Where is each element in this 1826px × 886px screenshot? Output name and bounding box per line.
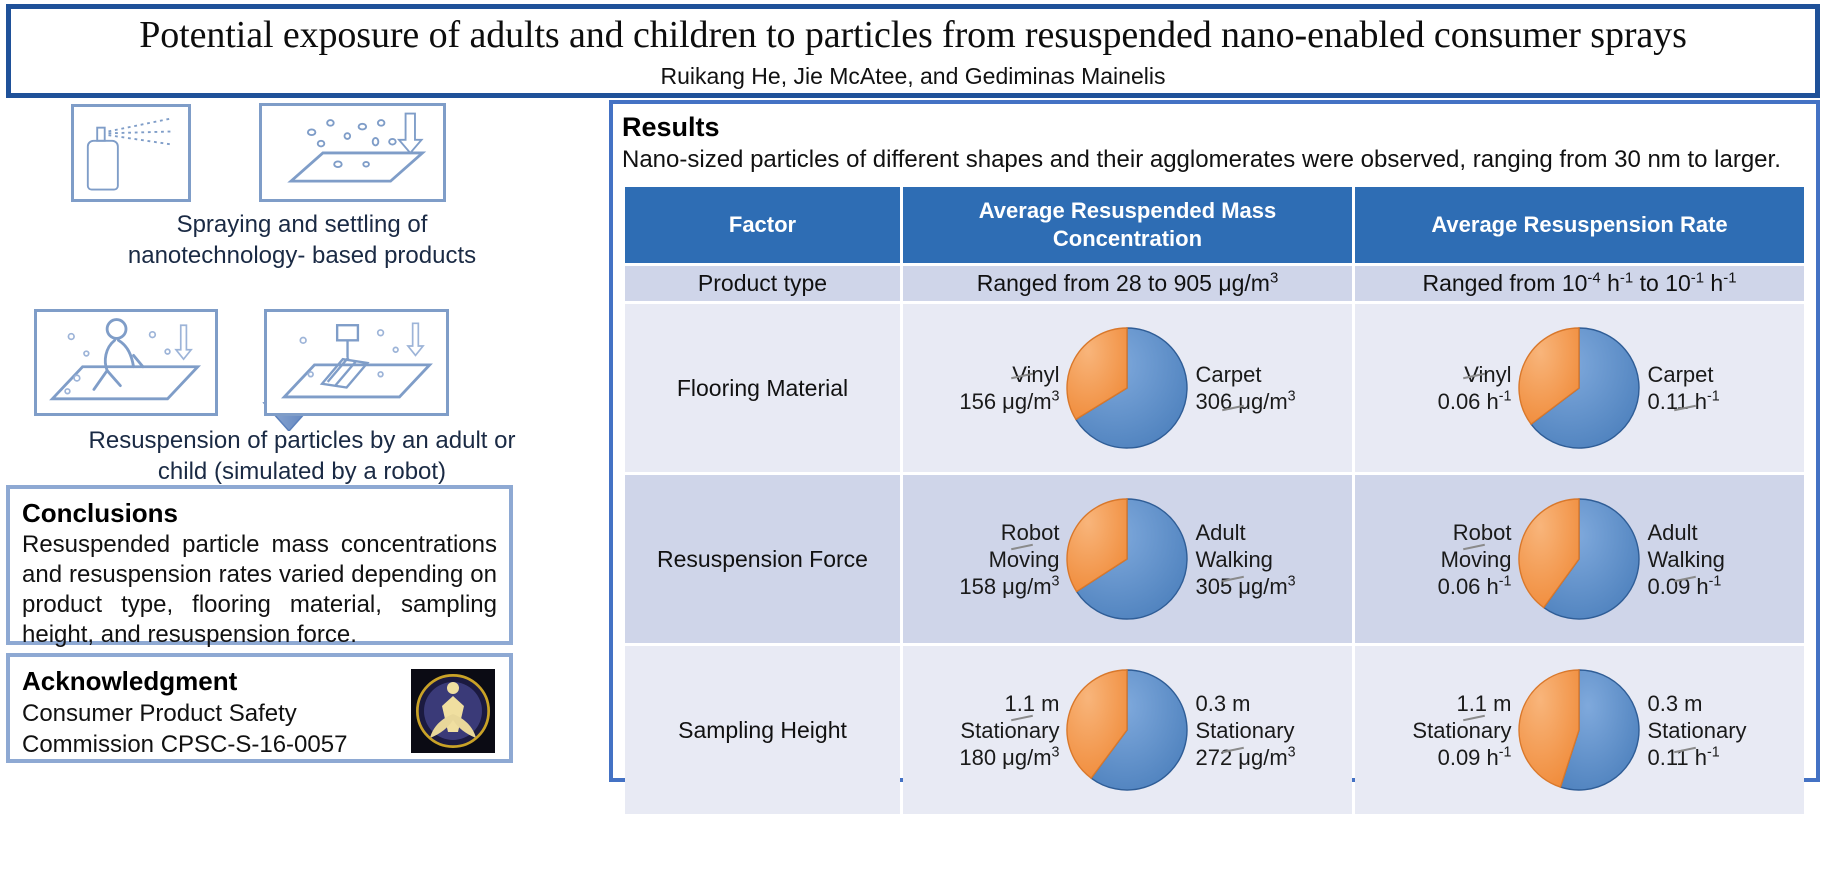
table-row: Sampling Height 1.1 mStationary180 μg/m3… — [625, 646, 1804, 814]
pie-callout-left: 1.1 mStationary180 μg/m3 — [947, 690, 1059, 771]
cpsc-seal-logo — [411, 669, 495, 753]
cell-mass-pie: RobotMoving158 μg/m3 AdultWalking305 μg/… — [903, 475, 1352, 643]
caption-line-1: Resuspension of particles by an adult or — [89, 427, 516, 454]
cell-mass-pie: Vinyl156 μg/m3 Carpet306 μg/m3 — [903, 304, 1352, 472]
poster-root: Potential exposure of adults and childre… — [0, 0, 1826, 886]
pie-chart — [1063, 495, 1191, 623]
table-row: Product type Ranged from 28 to 905 μg/m3… — [625, 266, 1804, 301]
pie-callout-left: RobotMoving0.06 h-1 — [1399, 519, 1511, 600]
pie-chart — [1063, 666, 1191, 794]
table-row: Resuspension Force RobotMoving158 μg/m3 … — [625, 475, 1804, 643]
figure-caption-bottom: Resuspension of particles by an adult or… — [4, 425, 600, 487]
pie-callout-left: 1.1 mStationary0.09 h-1 — [1399, 690, 1511, 771]
table-header-row: Factor Average Resuspended Mass Concentr… — [625, 187, 1804, 263]
acknowledgment-panel: Acknowledgment Consumer Product Safety C… — [6, 653, 513, 763]
pie-chart — [1515, 324, 1643, 452]
row-factor-label: Flooring Material — [625, 304, 900, 472]
conclusions-body: Resuspended particle mass concentrations… — [22, 530, 497, 650]
cpsc-seal-icon — [414, 672, 492, 750]
row-factor-label: Product type — [625, 266, 900, 301]
row-factor-label: Sampling Height — [625, 646, 900, 814]
author-list: Ruikang He, Jie McAtee, and Gediminas Ma… — [661, 62, 1166, 90]
table-row: Flooring Material Vinyl156 μg/m3 Carpet3… — [625, 304, 1804, 472]
pie-callout-right: 0.3 mStationary272 μg/m3 — [1195, 690, 1307, 771]
results-table: Factor Average Resuspended Mass Concentr… — [622, 184, 1807, 817]
page-title: Potential exposure of adults and childre… — [139, 13, 1687, 57]
adult-walking-figure — [34, 309, 218, 416]
figure-caption-top: Spraying and settling of nanotechnology-… — [4, 209, 600, 271]
column-header-factor: Factor — [625, 187, 900, 263]
cell-rate-pie: 1.1 mStationary0.09 h-1 0.3 mStationary0… — [1355, 646, 1804, 814]
pie-callout-left: Vinyl156 μg/m3 — [947, 361, 1059, 415]
left-column: Spraying and settling of nanotechnology-… — [4, 103, 600, 881]
title-banner: Potential exposure of adults and childre… — [6, 4, 1820, 98]
caption-line-2: child (simulated by a robot) — [158, 458, 446, 485]
conclusions-title: Conclusions — [22, 497, 497, 529]
conclusions-panel: Conclusions Resuspended particle mass co… — [6, 485, 513, 645]
pie-callout-right: Carpet306 μg/m3 — [1195, 361, 1307, 415]
robot-moving-figure — [264, 309, 449, 416]
results-subtitle: Nano-sized particles of different shapes… — [622, 145, 1807, 175]
table-body: Product type Ranged from 28 to 905 μg/m3… — [625, 266, 1804, 814]
pie-callout-right: 0.3 mStationary0.11 h-1 — [1647, 690, 1759, 771]
cell-rate-pie: Vinyl0.06 h-1 Carpet0.11 h-1 — [1355, 304, 1804, 472]
cell-rate-text: Ranged from 10-4 h-1 to 10-1 h-1 — [1355, 266, 1804, 301]
spray-bottle-icon — [74, 107, 188, 199]
pie-callout-left: Vinyl0.06 h-1 — [1399, 361, 1511, 415]
pie-chart — [1063, 324, 1191, 452]
column-header-mass-concentration: Average Resuspended Mass Concentration — [903, 187, 1352, 263]
results-title: Results — [622, 111, 1807, 144]
spray-bottle-figure — [71, 104, 191, 202]
pie-callout-left: RobotMoving158 μg/m3 — [947, 519, 1059, 600]
caption-line-2: nanotechnology- based products — [128, 242, 476, 269]
pie-chart — [1515, 495, 1643, 623]
cell-mass-text: Ranged from 28 to 905 μg/m3 — [903, 266, 1352, 301]
particles-settling-figure — [259, 103, 446, 202]
pie-callout-right: Carpet0.11 h-1 — [1647, 361, 1759, 415]
cell-mass-pie: 1.1 mStationary180 μg/m3 0.3 mStationary… — [903, 646, 1352, 814]
pie-callout-right: AdultWalking0.09 h-1 — [1647, 519, 1759, 600]
adult-walking-icon — [37, 312, 215, 413]
cell-rate-pie: RobotMoving0.06 h-1 AdultWalking0.09 h-1 — [1355, 475, 1804, 643]
column-header-resuspension-rate: Average Resuspension Rate — [1355, 187, 1804, 263]
caption-line-1: Spraying and settling of — [177, 211, 428, 238]
pie-callout-right: AdultWalking305 μg/m3 — [1195, 519, 1307, 600]
pie-chart — [1515, 666, 1643, 794]
particles-settling-icon — [262, 106, 443, 199]
robot-moving-icon — [267, 312, 446, 413]
results-panel: Results Nano-sized particles of differen… — [609, 100, 1820, 782]
row-factor-label: Resuspension Force — [625, 475, 900, 643]
